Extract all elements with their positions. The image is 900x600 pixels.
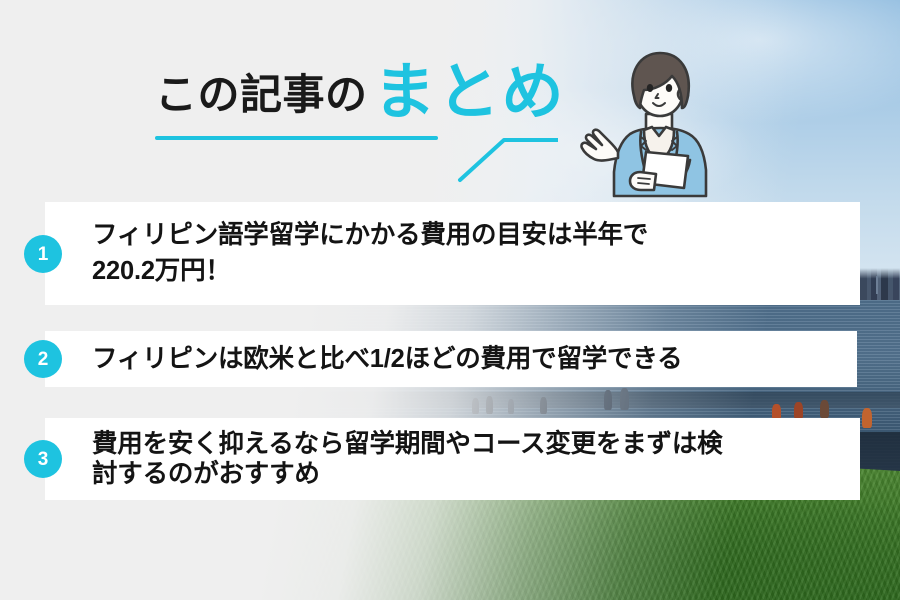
woman-presenting-illustration [578,48,748,213]
summary-infographic: この記事の まとめ フィリピン語学留学にかかる費用の目安は半年で 220.2万円… [0,0,900,600]
badge-number: 3 [38,450,49,469]
summary-item-badge-3: 3 [24,440,62,478]
summary-item-text: 費用を安く抑えるなら留学期間やコース変更をまずは検 討するのがおすすめ [92,429,722,489]
badge-number: 2 [38,350,49,369]
title-underline [155,136,438,140]
page-title-highlight: まとめ [374,62,566,124]
summary-item-badge-2: 2 [24,340,62,378]
summary-item-3: 費用を安く抑えるなら留学期間やコース変更をまずは検 討するのがおすすめ [45,418,860,500]
title-pointer-line [438,128,558,188]
summary-item-badge-1: 1 [24,235,62,273]
summary-item-2: フィリピンは欧米と比べ1/2ほどの費用で留学できる [45,331,857,387]
badge-number: 1 [38,245,49,264]
summary-item-text: フィリピンは欧米と比べ1/2ほどの費用で留学できる [92,344,682,375]
summary-item-text: フィリピン語学留学にかかる費用の目安は半年で 220.2万円！ [92,218,648,289]
page-title-prefix: この記事の [155,74,368,116]
summary-item-1: フィリピン語学留学にかかる費用の目安は半年で 220.2万円！ [45,202,860,305]
page-title: この記事の まとめ [155,58,566,120]
